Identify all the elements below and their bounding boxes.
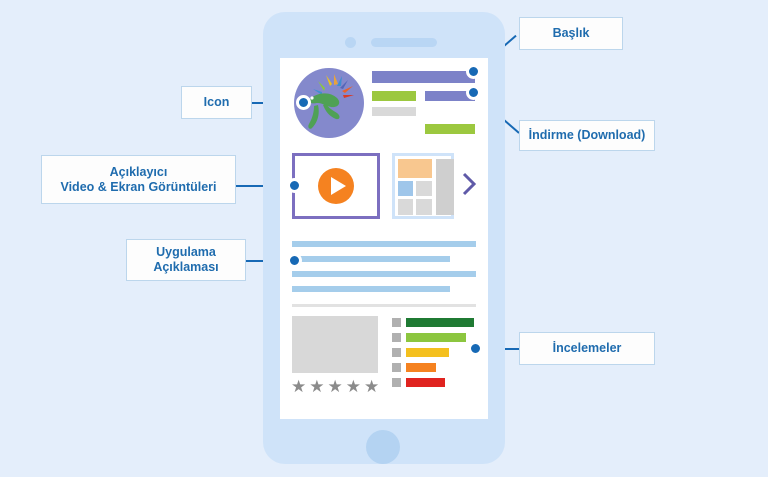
app-subtitle-bar <box>372 107 416 116</box>
histogram-bar-3-star <box>406 348 449 357</box>
screenshot-cell-1 <box>436 159 454 215</box>
description-line-1 <box>292 256 450 262</box>
histogram-marker-5-star <box>392 318 401 327</box>
histogram-bar-4-star <box>406 333 466 342</box>
diagram-canvas: ★★★★★ IconBaşlıkİndirme (Download)Açıkla… <box>0 0 768 477</box>
histogram-marker-4-star <box>392 333 401 342</box>
callout-video-screenshots-line-0: Açıklayıcı <box>110 165 168 180</box>
screenshot-thumbnail[interactable] <box>392 153 454 219</box>
connector-dot-reviews <box>468 341 483 356</box>
app-rating-bar <box>372 91 416 101</box>
screenshot-cell-0 <box>398 159 432 178</box>
callout-reviews: İncelemeler <box>519 332 655 365</box>
histogram-bar-2-star <box>406 363 436 372</box>
histogram-marker-3-star <box>392 348 401 357</box>
screenshot-cell-5 <box>416 199 432 215</box>
callout-app-description-line-0: Uygulama <box>156 245 216 260</box>
histogram-row-2-star <box>392 363 476 372</box>
callout-title: Başlık <box>519 17 623 50</box>
connector-dot-video-screenshots <box>287 178 302 193</box>
screenshot-cell-2 <box>398 181 413 196</box>
histogram-row-3-star <box>392 348 476 357</box>
video-preview[interactable] <box>292 153 380 219</box>
callout-reviews-line-0: İncelemeler <box>553 341 622 356</box>
histogram-row-1-star <box>392 378 476 387</box>
histogram-row-5-star <box>392 318 476 327</box>
speaker-grille-icon <box>371 38 437 47</box>
callout-video-screenshots: AçıklayıcıVideo & Ekran Görüntüleri <box>41 155 236 204</box>
app-store-screen: ★★★★★ <box>280 58 488 419</box>
chevron-right-icon[interactable] <box>462 172 476 196</box>
home-button[interactable] <box>366 430 400 464</box>
histogram-bar-1-star <box>406 378 445 387</box>
callout-icon: Icon <box>181 86 252 119</box>
play-triangle-icon <box>331 177 346 195</box>
callout-download: İndirme (Download) <box>519 120 655 151</box>
front-camera-icon <box>345 37 356 48</box>
histogram-marker-2-star <box>392 363 401 372</box>
connector-dot-download <box>466 85 481 100</box>
histogram-bar-5-star <box>406 318 474 327</box>
callout-app-description-line-1: Açıklaması <box>153 260 218 275</box>
description-line-3 <box>292 286 450 292</box>
callout-icon-line-0: Icon <box>204 95 230 110</box>
screenshot-cell-4 <box>398 199 413 215</box>
connector-dot-icon <box>296 95 311 110</box>
phone-mockup: ★★★★★ <box>263 12 505 464</box>
connector-dot-app-description <box>287 253 302 268</box>
connector-dot-title <box>466 64 481 79</box>
section-divider <box>292 304 476 307</box>
description-line-0 <box>292 241 476 247</box>
review-image <box>292 316 378 373</box>
screenshot-cell-3 <box>416 181 432 196</box>
callout-download-line-0: İndirme (Download) <box>529 128 646 143</box>
app-price-bar[interactable] <box>425 124 475 134</box>
callout-title-line-0: Başlık <box>553 26 590 41</box>
play-button-icon[interactable] <box>318 168 354 204</box>
histogram-marker-1-star <box>392 378 401 387</box>
app-title-bar <box>372 71 475 83</box>
histogram-row-4-star <box>392 333 476 342</box>
callout-video-screenshots-line-1: Video & Ekran Görüntüleri <box>60 180 216 195</box>
star-rating: ★★★★★ <box>291 378 383 395</box>
description-line-2 <box>292 271 476 277</box>
callout-app-description: UygulamaAçıklaması <box>126 239 246 281</box>
